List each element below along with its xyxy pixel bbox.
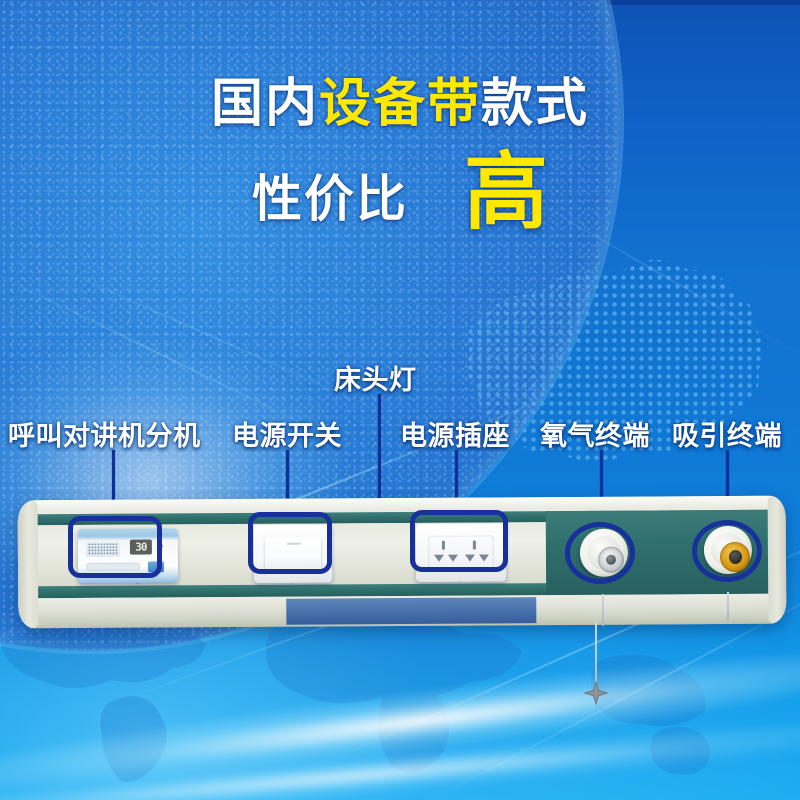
highlight-box-power-socket <box>410 510 508 572</box>
callout-label-power-socket: 电源插座 <box>400 414 510 453</box>
promo-banner: 国内设备带款式 性价比 高 呼叫对讲机分机 电源开关 床头灯 电源插座 氧气终端… <box>0 0 800 800</box>
highlight-box-power-switch <box>248 512 332 574</box>
panel-lamp-diffuser <box>286 597 536 625</box>
callout-label-suction: 吸引终端 <box>672 414 782 453</box>
callout-label-oxygen: 氧气终端 <box>540 414 650 453</box>
highlight-box-intercom <box>68 516 162 578</box>
highlight-ring-oxygen <box>565 522 635 584</box>
pull-cord-handle[interactable] <box>583 680 609 706</box>
callout-label-power-switch: 电源开关 <box>232 414 342 453</box>
panel-end-cap-left <box>18 500 39 628</box>
panel-end-cap-right <box>768 496 787 624</box>
oxygen-hose-cord <box>602 594 604 626</box>
callout-label-bed-lamp: 床头灯 <box>334 358 417 397</box>
highlight-ring-suction <box>692 520 762 582</box>
suction-hose-cord <box>727 592 729 620</box>
callout-layer: 呼叫对讲机分机 电源开关 床头灯 电源插座 氧气终端 吸引终端 <box>0 0 800 800</box>
callout-label-intercom: 呼叫对讲机分机 <box>8 414 201 453</box>
